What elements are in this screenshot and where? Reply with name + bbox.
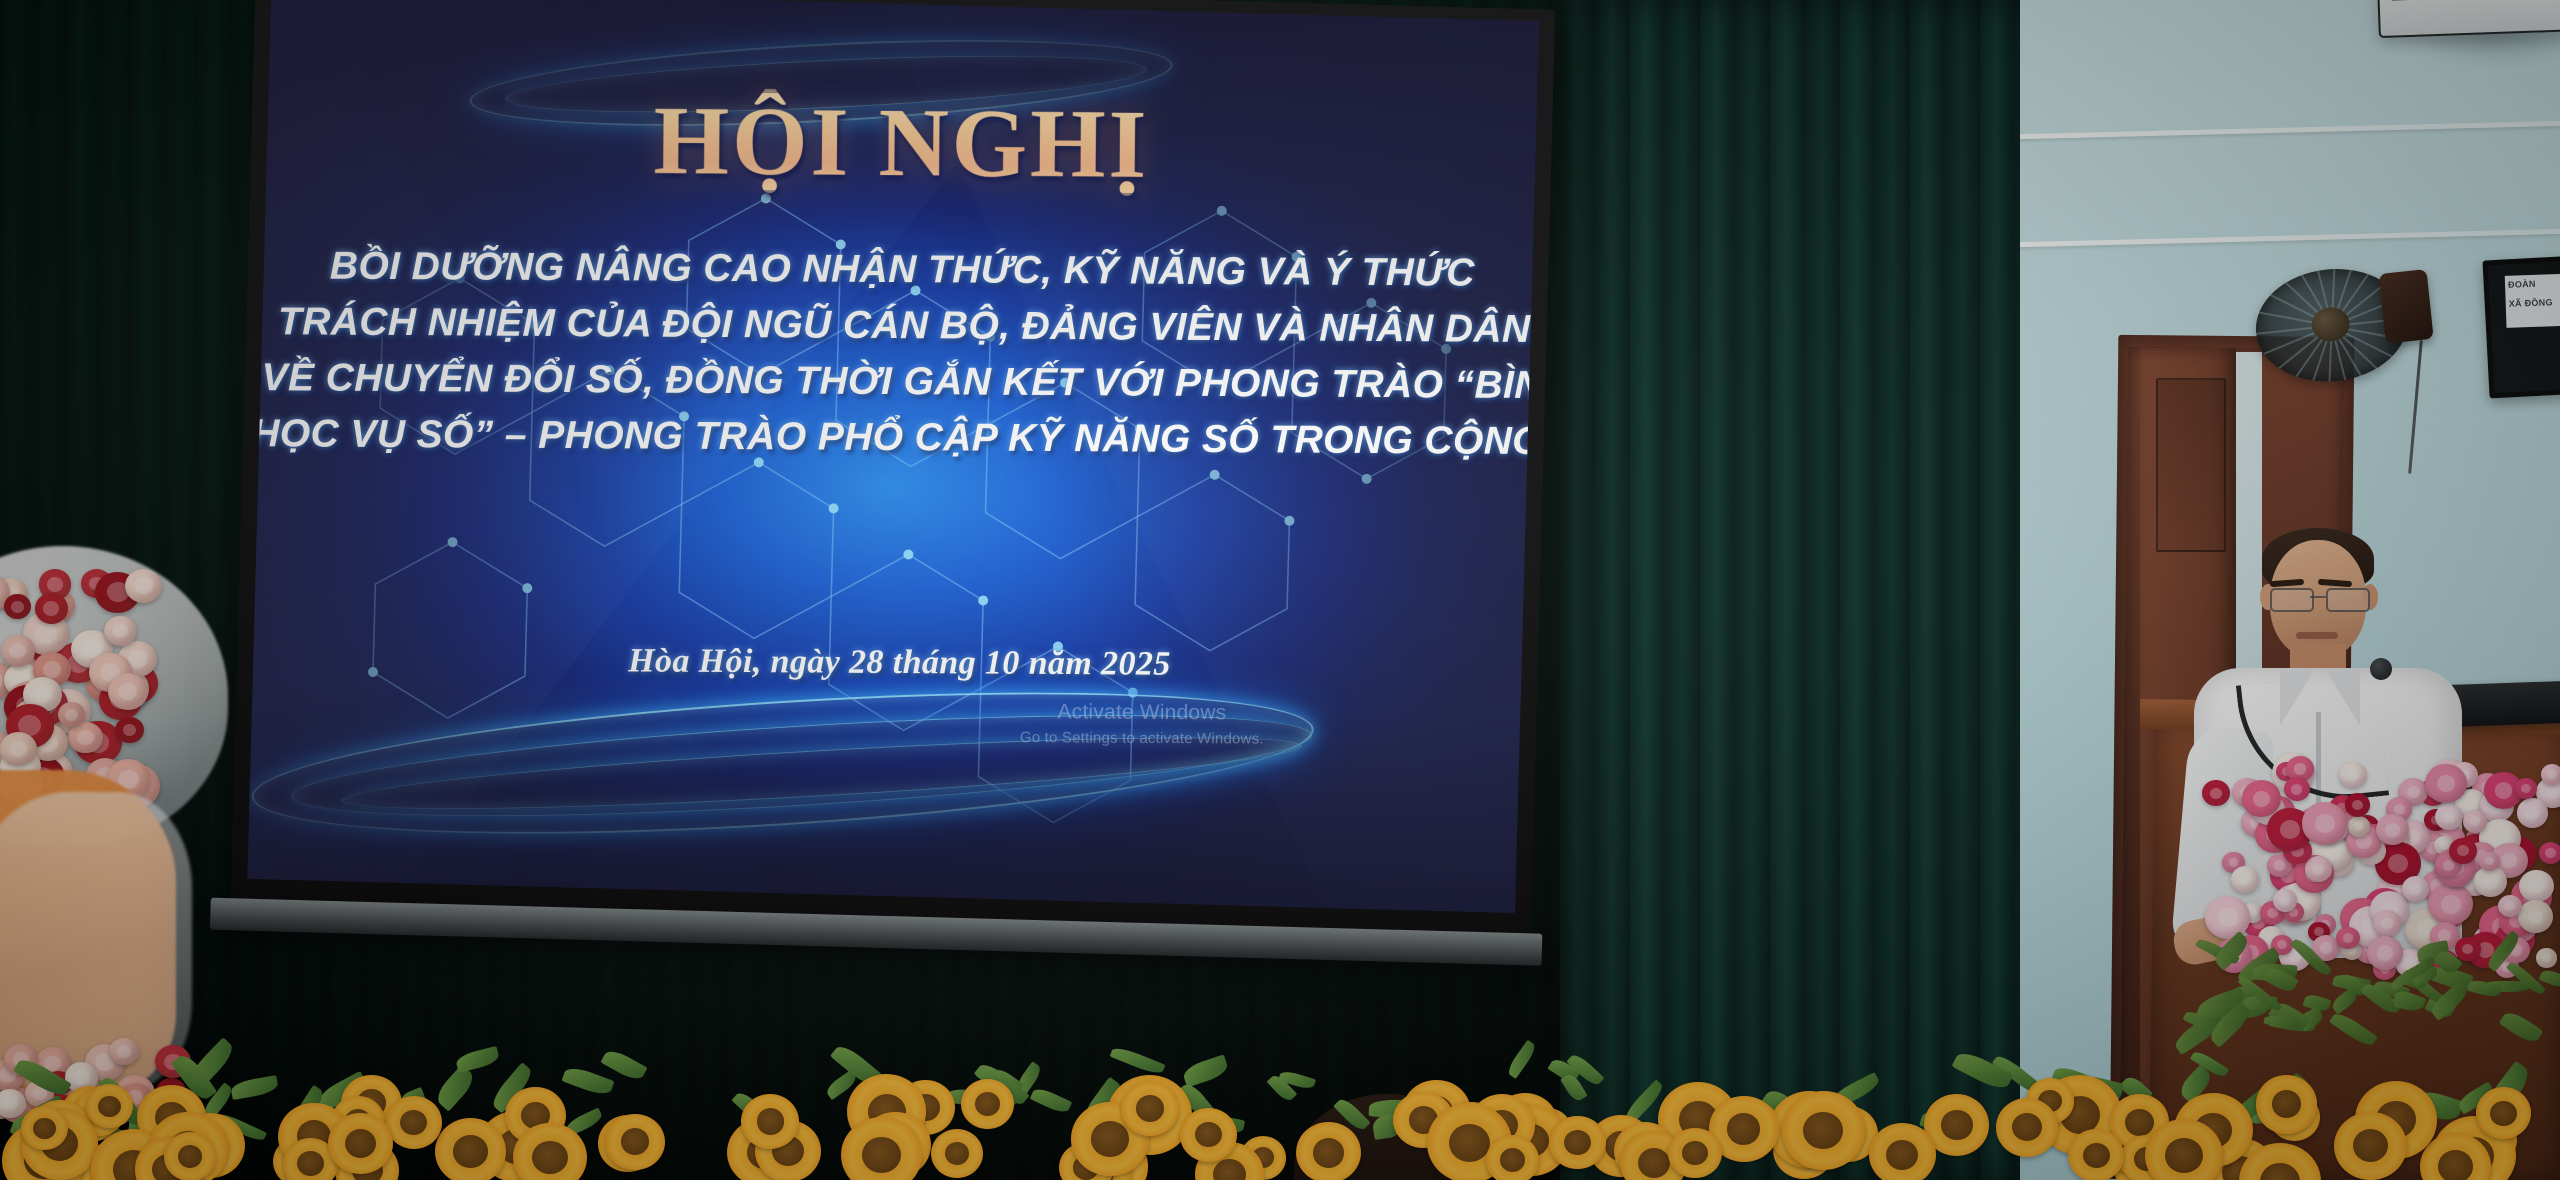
slide-place-date: Hòa Hội, ngày 28 tháng 10 năm 2025	[265, 640, 1533, 686]
wall-sign-sheet: ĐOÀN XÃ ĐỒNG	[2505, 274, 2560, 328]
door-panel-top	[2156, 378, 2226, 552]
watermark-title: Activate Windows	[992, 700, 1292, 726]
slide-title: HỘI NGHỊ	[267, 89, 1536, 196]
fan-motor	[2379, 269, 2434, 344]
framed-wall-sign: ĐOÀN XÃ ĐỒNG	[2482, 256, 2560, 399]
wall-fan-icon	[2250, 259, 2437, 395]
sunflower-row	[0, 1026, 2560, 1180]
conference-photo: ĐOÀN XÃ ĐỒNG	[0, 0, 2560, 1180]
slide-body-line-1: BỒI DƯỠNG NÂNG CAO NHẬN THỨC, KỸ NĂNG VÀ…	[288, 238, 1516, 302]
slide-body-line-2: TRÁCH NHIỆM CỦA ĐỘI NGŨ CÁN BỘ, ĐẢNG VIÊ…	[278, 294, 1506, 358]
screen-frame: HỘI NGHỊ BỒI DƯỠNG NÂNG CAO NHẬN THỨC, K…	[231, 0, 1556, 939]
wall-trim-lower	[1980, 229, 2560, 248]
wall-sign-line-1: ĐOÀN	[2505, 274, 2560, 295]
wall-sign-line-2: XÃ ĐỒNG	[2505, 293, 2560, 314]
windows-activation-watermark: Activate Windows Go to Settings to activ…	[992, 700, 1292, 748]
microphone-icon	[2370, 658, 2392, 680]
wall-trim-upper	[1980, 121, 2560, 140]
slide-body-line-4: HỌC VỤ SỐ” – PHONG TRÀO PHỔ CẬP KỸ NĂNG …	[251, 406, 1479, 470]
watermark-subtitle: Go to Settings to activate Windows.	[992, 729, 1292, 748]
glasses-icon	[2268, 588, 2368, 608]
slide-text-block: HỘI NGHỊ BỒI DƯỠNG NÂNG CAO NHẬN THỨC, K…	[247, 0, 1539, 913]
air-conditioner-icon	[2377, 0, 2560, 38]
slide-body-line-3: VỀ CHUYỂN ĐỔI SỐ, ĐỒNG THỜI GẮN KẾT VỚI …	[261, 350, 1489, 414]
projection-screen: HỘI NGHỊ BỒI DƯỠNG NÂNG CAO NHẬN THỨC, K…	[231, 0, 1556, 939]
speaker-mouth	[2296, 632, 2338, 639]
slide-body: BỒI DƯỠNG NÂNG CAO NHẬN THỨC, KỸ NĂNG VÀ…	[281, 238, 1510, 469]
slide-surface: HỘI NGHỊ BỒI DƯỠNG NÂNG CAO NHẬN THỨC, K…	[247, 0, 1539, 913]
stage-curtain-right	[1560, 0, 2020, 1180]
